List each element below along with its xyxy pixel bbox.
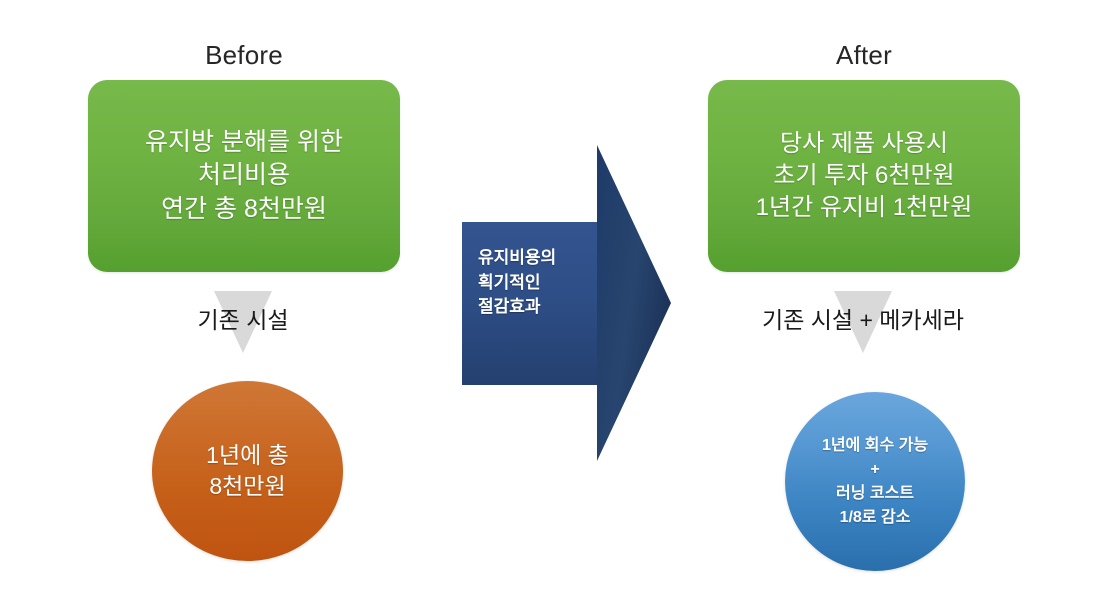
after-total-circle: 1년에 회수 가능 + 러닝 코스트 1/8로 감소 — [785, 392, 965, 571]
column-header-before: Before — [88, 42, 400, 68]
before-total-circle-text: 1년에 총 8천만원 — [206, 440, 289, 502]
after-connector-label: 기존 시설 + 메카세라 — [713, 309, 1013, 332]
slide-canvas: Before After 유지방 분해를 위한 처리비용 연간 총 8천만원 당… — [0, 0, 1110, 594]
after-total-circle-text: 1년에 회수 가능 + 러닝 코스트 1/8로 감소 — [822, 434, 928, 530]
column-header-after: After — [708, 42, 1020, 68]
transition-arrow-text: 유지비용의 획기적인 절감효과 — [478, 246, 608, 320]
after-cost-box: 당사 제품 사용시 초기 투자 6천만원 1년간 유지비 1천만원 — [708, 80, 1020, 272]
transition-arrow: 유지비용의 획기적인 절감효과 — [460, 142, 675, 464]
after-cost-box-text: 당사 제품 사용시 초기 투자 6천만원 1년간 유지비 1천만원 — [748, 128, 981, 224]
before-cost-box: 유지방 분해를 위한 처리비용 연간 총 8천만원 — [88, 80, 400, 272]
before-connector-label: 기존 시설 — [118, 309, 368, 332]
before-total-circle: 1년에 총 8천만원 — [152, 381, 343, 561]
before-cost-box-text: 유지방 분해를 위한 처리비용 연간 총 8천만원 — [137, 126, 351, 226]
